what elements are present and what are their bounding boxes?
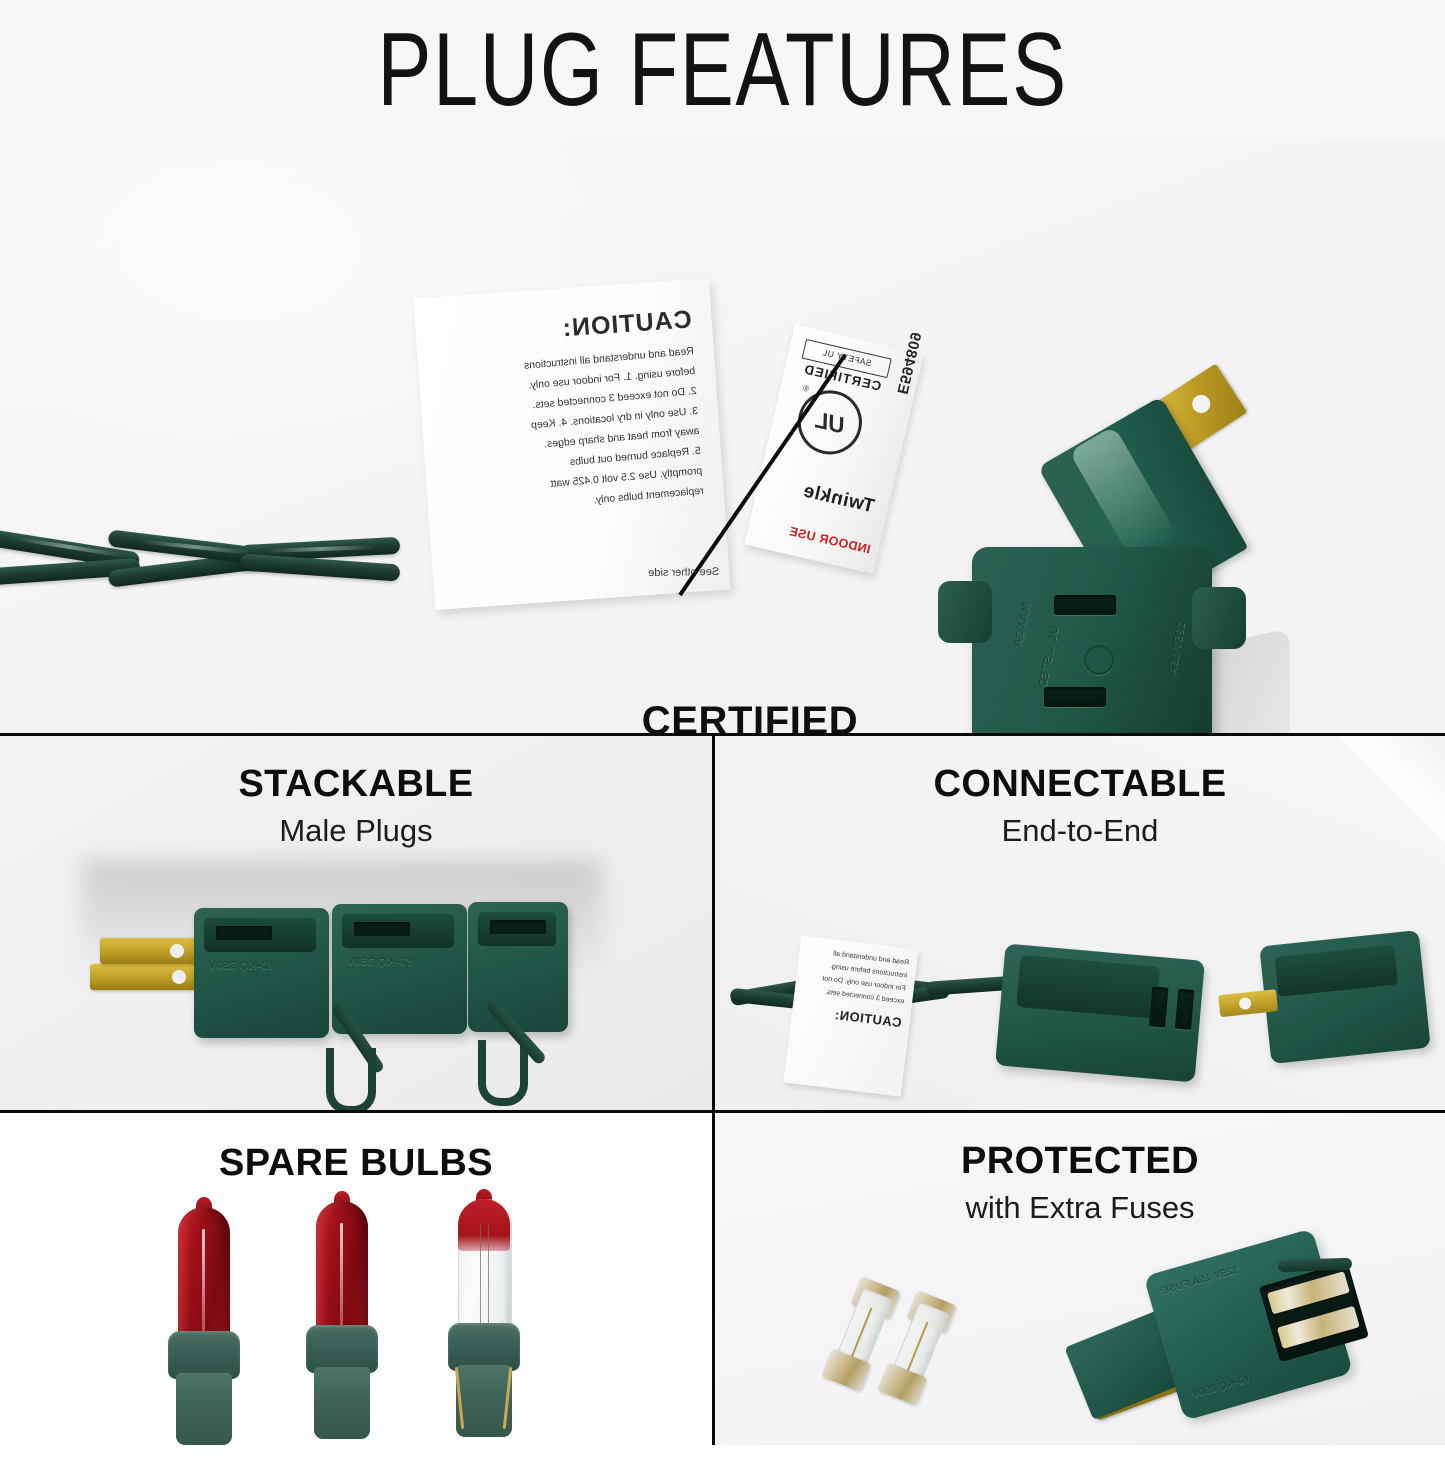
cord-loop	[326, 1048, 376, 1114]
socket-slot	[1175, 989, 1194, 1030]
stackable-plugs-illustration: YJ-KQ 350V YJ-KQ 350V	[82, 880, 612, 1110]
panel-connectable-title: CONNECTABLE	[715, 764, 1445, 806]
bulb-base	[306, 1325, 378, 1373]
plug-slot	[354, 922, 410, 936]
stackable-plug-back: YJ-KQ 350V	[332, 904, 467, 1034]
registered-icon: ®	[802, 384, 810, 394]
plug-top	[1274, 945, 1398, 997]
ul-brand-text: Twinkle	[801, 480, 877, 518]
certified-callout: CERTIFIED for safety	[560, 700, 940, 733]
male-plug-end	[1259, 930, 1430, 1064]
internal-fuse	[1267, 1271, 1350, 1314]
divider-vertical	[712, 733, 715, 1445]
bulb-base	[448, 1323, 520, 1371]
title-band: PLUG FEATURES	[0, 0, 1445, 140]
divider-horizontal-top	[0, 733, 1445, 736]
ul-mark-icon: UL	[792, 384, 869, 461]
hero-plug-illustration: MAX 3A UL LISTED 125V 15A	[962, 372, 1292, 733]
caution-tag: CAUTION: Read and understand all instruc…	[413, 278, 730, 610]
ul-file-number: E594809	[893, 330, 924, 396]
panel-stackable-header: STACKABLE Male Plugs	[0, 764, 712, 848]
panel-connectable-header: CONNECTABLE End-to-End	[715, 764, 1445, 848]
plug-wing	[1192, 587, 1246, 649]
protected-illustration: 125V 15A FUSE YJ-KQ 350V	[830, 1250, 1430, 1445]
female-socket-end	[995, 944, 1205, 1083]
panel-protected-header: PROTECTED with Extra Fuses	[715, 1141, 1445, 1225]
cord-illustration	[0, 505, 470, 615]
panel-connectable-subtitle: End-to-End	[715, 814, 1445, 848]
brass-prong-icon	[1218, 989, 1278, 1017]
infographic-page: PLUG FEATURES CAUTION: Read and understa…	[0, 0, 1445, 1445]
plug-body: MAX 3A UL LISTED 125V 15A	[972, 547, 1212, 733]
cord-loop	[478, 1040, 528, 1106]
plug-slot	[1044, 687, 1106, 707]
bulb-filament	[480, 1225, 489, 1323]
plug-embossing: 125V 15A	[1166, 621, 1187, 676]
connectable-illustration: Read and understand all instructions bef…	[730, 930, 1430, 1115]
ground-symbol-icon	[1084, 645, 1114, 675]
ul-certification-label: SAFETY UL CERTIFIED UL ® E594809 Twinkle…	[744, 324, 923, 574]
caution-tag-title: CAUTION:	[429, 305, 692, 352]
fuse-bay	[1259, 1262, 1369, 1362]
bulb-skirt	[176, 1373, 232, 1445]
callout-title: CERTIFIED	[560, 700, 940, 733]
panel-spare-bulbs-header: SPARE BULBS	[0, 1143, 712, 1185]
spare-bulb-red-2	[298, 1197, 384, 1447]
plug-embossing: YJ-KQ 350V	[208, 960, 275, 972]
stackable-plug-third	[468, 902, 568, 1032]
caution-tag-footer: See other side	[648, 566, 719, 579]
bulb-filament	[340, 1223, 343, 1327]
panel-spare-bulbs-title: SPARE BULBS	[0, 1143, 712, 1185]
brass-prong-icon	[100, 938, 200, 964]
panel-stackable-title: STACKABLE	[0, 764, 712, 806]
panel-stackable-subtitle: Male Plugs	[0, 814, 712, 848]
spare-bulb-clear	[440, 1195, 526, 1445]
internal-fuse	[1277, 1306, 1360, 1349]
stackable-plug-front: YJ-KQ 350V	[194, 908, 329, 1038]
plug-slot	[490, 920, 546, 934]
bulb-skirt	[314, 1367, 370, 1439]
divider-horizontal-bottom	[0, 1110, 1445, 1113]
plug-embossing: YJ-KQ 350V	[1191, 1373, 1252, 1400]
hero-panel: CAUTION: Read and understand all instruc…	[0, 140, 1445, 733]
bulb-filament	[202, 1229, 205, 1333]
plug-embossing: UL LISTED	[1037, 625, 1062, 688]
bulb-base	[168, 1331, 240, 1379]
cord-segment	[1278, 1258, 1352, 1273]
socket-top	[1016, 955, 1160, 1019]
plug-embossing: YJ-KQ 350V	[346, 956, 413, 968]
page-title: PLUG FEATURES	[377, 18, 1067, 122]
connectable-caution-tag: Read and understand all instructions bef…	[783, 935, 918, 1096]
panel-protected-subtitle: with Extra Fuses	[715, 1191, 1445, 1225]
spare-bulbs-illustration	[150, 1195, 570, 1445]
plug-embossing: MAX 3A	[1012, 602, 1033, 649]
plug-slot	[1054, 595, 1116, 615]
panel-protected-title: PROTECTED	[715, 1141, 1445, 1183]
ul-usage-text: INDOOR USE	[788, 524, 872, 556]
spare-bulb-red-1	[160, 1203, 246, 1453]
plug-slot	[216, 926, 272, 940]
socket-slot	[1149, 986, 1168, 1027]
plug-embossing: 125V 15A FUSE	[1161, 1265, 1240, 1297]
plug-wing	[938, 581, 992, 643]
brass-prong-icon	[90, 964, 202, 990]
tag-title: CAUTION:	[799, 1003, 902, 1030]
